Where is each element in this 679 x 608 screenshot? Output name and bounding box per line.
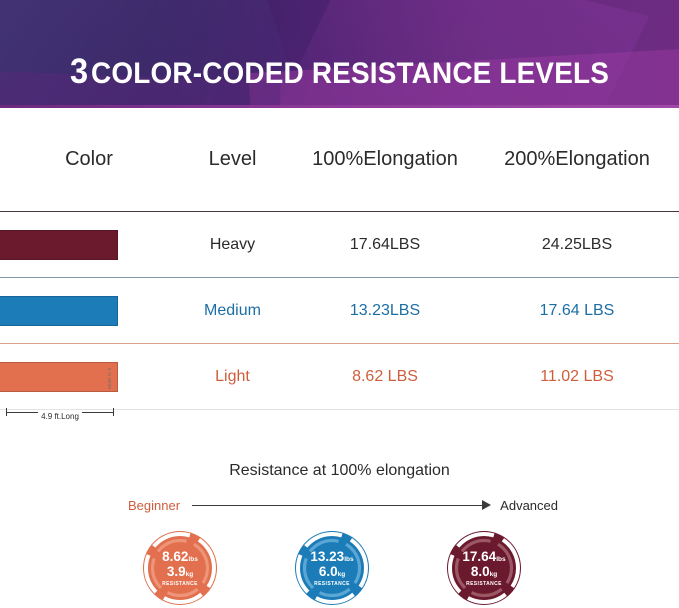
gauge-medium-kg-value: 6.0 xyxy=(319,564,338,579)
cell-level-medium: Medium xyxy=(204,302,261,319)
gauge-medium-lbs-unit: lbs xyxy=(344,556,353,563)
scale-axis: Beginner Advanced xyxy=(128,494,558,516)
table-row: Heavy 17.64LBS 24.25LBS xyxy=(0,212,679,277)
page-title-number: 3 xyxy=(70,52,88,91)
scale-label-advanced: Advanced xyxy=(500,498,558,513)
gauge-light-caption: RESISTANCE xyxy=(162,582,198,587)
cell-elongation200-medium: 17.64 LBS xyxy=(540,302,615,319)
gauge-heavy-kg-value: 8.0 xyxy=(471,564,490,579)
cell-elongation100-light: 8.62 LBS xyxy=(352,368,418,385)
gauge-medium-caption: RESISTANCE xyxy=(314,582,350,587)
column-header-elongation-100: 100%Elongation xyxy=(295,148,475,171)
cell-elongation100-medium: 13.23LBS xyxy=(350,302,420,319)
dimension-length-label: 4.9 ft.Long xyxy=(38,412,82,421)
gauge-light: 8.62lbs 3.9kg RESISTANCE xyxy=(140,528,220,608)
resistance-table: Color Level 100%Elongation 200%Elongatio… xyxy=(0,108,679,410)
gauge-heavy: 17.64lbs 8.0kg RESISTANCE xyxy=(444,528,524,608)
table-row: Medium 13.23LBS 17.64 LBS xyxy=(0,278,679,343)
gauge-heavy-kg-unit: kg xyxy=(490,571,498,578)
table-row: 6 in.Wide 4.9 ft.Long Light 8.62 LBS 11.… xyxy=(0,344,679,409)
banner-underline xyxy=(0,105,679,108)
gauge-light-kg-unit: kg xyxy=(186,571,194,578)
gauge-heavy-caption: RESISTANCE xyxy=(466,582,502,587)
dimension-length: 4.9 ft.Long xyxy=(6,406,114,418)
band-dimension-annotations: 6 in.Wide 4.9 ft.Long xyxy=(0,362,170,427)
color-swatch-medium xyxy=(0,296,118,326)
scale-caption: Resistance at 100% elongation xyxy=(0,462,679,480)
cell-elongation100-heavy: 17.64LBS xyxy=(350,236,420,253)
gauge-medium-lbs-value: 13.23 xyxy=(310,549,344,564)
page-title-text: COLOR-CODED RESISTANCE LEVELS xyxy=(91,57,609,90)
cell-level-heavy: Heavy xyxy=(210,236,255,253)
gauge-group: 8.62lbs 3.9kg RESISTANCE 13.23lbs 6.0kg … xyxy=(0,528,679,603)
gauge-light-lbs-value: 8.62 xyxy=(162,549,188,564)
gauge-light-lbs-unit: lbs xyxy=(188,556,197,563)
page-header-banner: 3COLOR-CODED RESISTANCE LEVELS xyxy=(0,0,679,108)
column-header-level: Level xyxy=(170,148,295,171)
scale-arrow-icon xyxy=(192,500,491,510)
cell-level-light: Light xyxy=(215,368,250,385)
gauge-medium: 13.23lbs 6.0kg RESISTANCE xyxy=(292,528,372,608)
gauge-heavy-lbs-unit: lbs xyxy=(496,556,505,563)
page-title: 3COLOR-CODED RESISTANCE LEVELS xyxy=(24,52,655,92)
dimension-width-label: 6 in.Wide xyxy=(107,368,112,389)
gauge-heavy-lbs-value: 17.64 xyxy=(462,549,496,564)
cell-elongation200-heavy: 24.25LBS xyxy=(542,236,612,253)
scale-label-beginner: Beginner xyxy=(128,498,180,513)
gauge-medium-kg-unit: kg xyxy=(338,571,346,578)
color-swatch-heavy xyxy=(0,230,118,260)
cell-elongation200-light: 11.02 LBS xyxy=(540,368,614,385)
table-header-row: Color Level 100%Elongation 200%Elongatio… xyxy=(0,108,679,211)
column-header-color: Color xyxy=(0,148,170,171)
gauge-light-kg-value: 3.9 xyxy=(167,564,186,579)
column-header-elongation-200: 200%Elongation xyxy=(475,148,679,171)
